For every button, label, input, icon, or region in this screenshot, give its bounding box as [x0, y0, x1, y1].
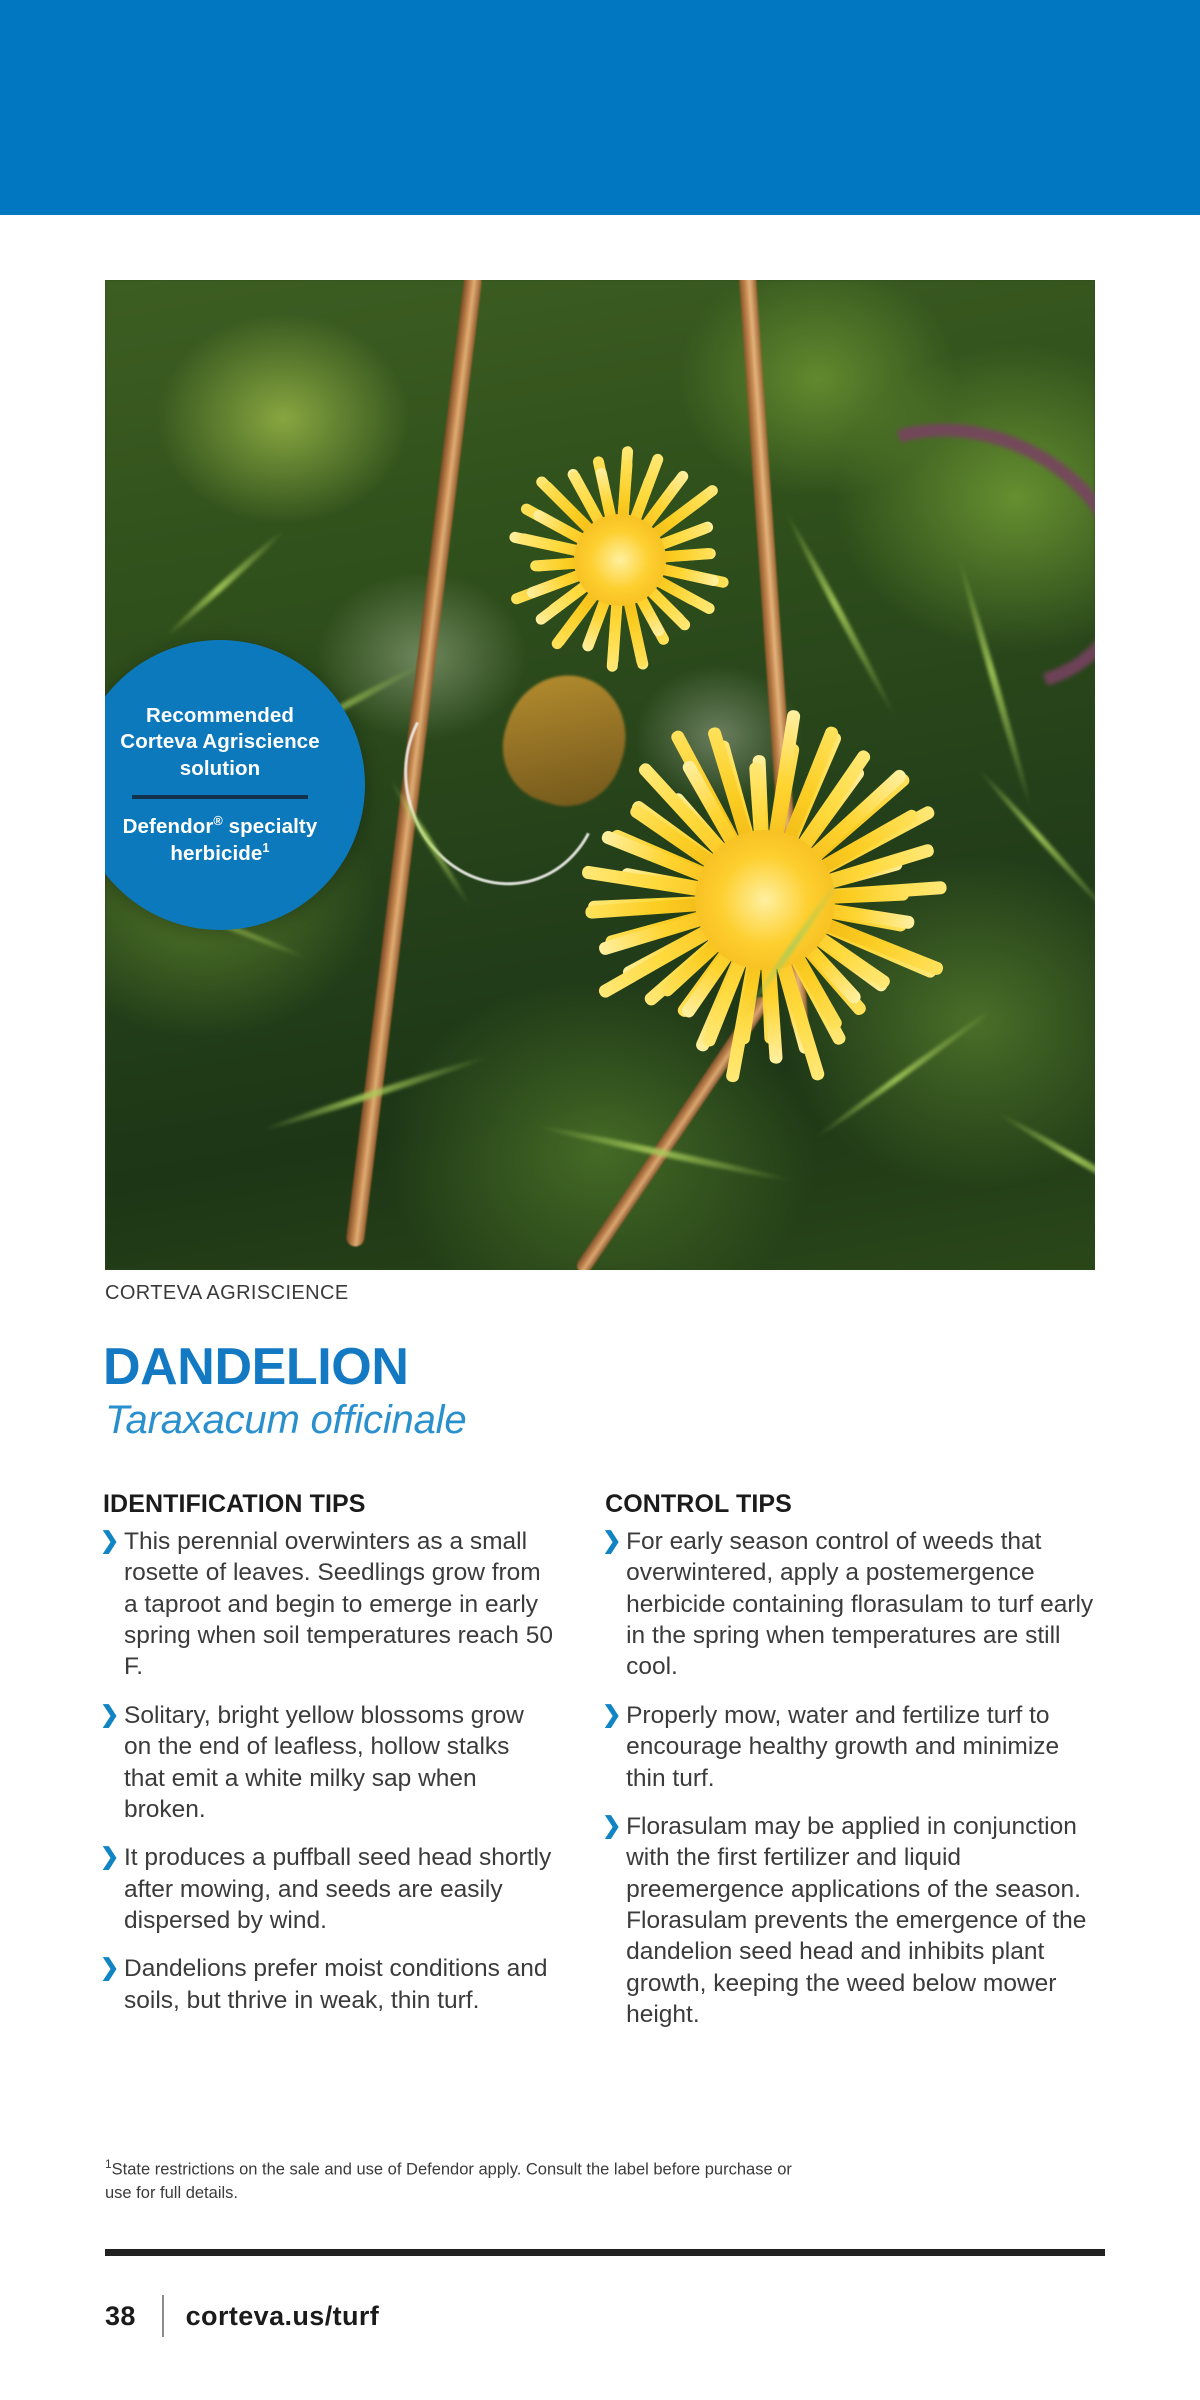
- chevron-right-icon: ❯: [100, 1953, 119, 1982]
- tip-bullet-text: For early season control of weeds that o…: [626, 1528, 1093, 1680]
- tip-bullet: ❯Dandelions prefer moist conditions and …: [98, 1953, 556, 2016]
- badge-line-2: Corteva Agriscience: [120, 730, 319, 753]
- badge-product-name: Defendor: [123, 815, 214, 838]
- photo-dandelion-flower-top: [505, 455, 735, 665]
- identification-tips-column: IDENTIFICATION TIPS ❯This perennial over…: [98, 1490, 556, 2047]
- registered-mark-icon: ®: [213, 813, 222, 828]
- footer: 38 corteva.us/turf: [105, 2295, 379, 2337]
- footer-separator: [162, 2295, 164, 2337]
- photo-credit-caption: CORTEVA AGRISCIENCE: [105, 1282, 349, 1305]
- tip-bullet: ❯Properly mow, water and fertilize turf …: [600, 1700, 1098, 1794]
- footer-rule: [105, 2249, 1105, 2256]
- page-number: 38: [105, 2301, 136, 2332]
- tips-columns: IDENTIFICATION TIPS ❯This perennial over…: [98, 1490, 1098, 2047]
- footer-url[interactable]: corteva.us/turf: [186, 2301, 380, 2332]
- footnote: 1State restrictions on the sale and use …: [105, 2156, 805, 2206]
- badge-product: Defendor® specialty herbicide1: [123, 813, 318, 867]
- tip-bullet-text: It produces a puffball seed head shortly…: [124, 1844, 551, 1934]
- chevron-right-icon: ❯: [602, 1526, 621, 1555]
- tip-bullet: ❯It produces a puffball seed head shortl…: [98, 1842, 556, 1936]
- flower-center: [574, 514, 666, 606]
- control-tips-list: ❯For early season control of weeds that …: [600, 1526, 1098, 2030]
- chevron-right-icon: ❯: [100, 1526, 119, 1555]
- tip-bullet-text: Florasulam may be applied in conjunction…: [626, 1813, 1086, 2028]
- photo-dandelion-flower-bottom: [575, 735, 955, 1065]
- tip-bullet: ❯Florasulam may be applied in conjunctio…: [600, 1811, 1098, 2031]
- badge-line-1: Recommended: [146, 704, 294, 727]
- chevron-right-icon: ❯: [602, 1811, 621, 1840]
- tip-bullet-text: This perennial overwinters as a small ro…: [124, 1528, 553, 1680]
- page-title: DANDELION: [103, 1337, 409, 1397]
- badge-product-line2: herbicide: [170, 842, 262, 865]
- badge-line-3: solution: [180, 757, 261, 780]
- header-blue-band: [0, 0, 1200, 215]
- tip-bullet-text: Solitary, bright yellow blossoms grow on…: [124, 1702, 524, 1823]
- control-tips-heading: CONTROL TIPS: [605, 1490, 1098, 1519]
- footnote-text: State restrictions on the sale and use o…: [105, 2161, 792, 2203]
- identification-tips-heading: IDENTIFICATION TIPS: [103, 1490, 556, 1519]
- identification-tips-list: ❯This perennial overwinters as a small r…: [98, 1526, 556, 2016]
- footnote-marker: 1: [105, 2157, 112, 2171]
- control-tips-column: CONTROL TIPS ❯For early season control o…: [600, 1490, 1098, 2047]
- tip-bullet: ❯Solitary, bright yellow blossoms grow o…: [98, 1700, 556, 1825]
- page-subtitle-scientific-name: Taraxacum officinale: [105, 1398, 466, 1443]
- tip-bullet: ❯This perennial overwinters as a small r…: [98, 1526, 556, 1683]
- chevron-right-icon: ❯: [100, 1842, 119, 1871]
- badge-divider: [132, 795, 308, 799]
- badge-product-suffix: specialty: [223, 815, 317, 838]
- tip-bullet-text: Dandelions prefer moist conditions and s…: [124, 1955, 548, 2013]
- badge-heading: Recommended Corteva Agriscience solution: [120, 703, 319, 782]
- hero-photo: Recommended Corteva Agriscience solution…: [105, 280, 1095, 1270]
- tip-bullet-text: Properly mow, water and fertilize turf t…: [626, 1702, 1059, 1792]
- badge-footnote-marker: 1: [262, 840, 269, 855]
- flower-center: [695, 830, 835, 970]
- chevron-right-icon: ❯: [100, 1700, 119, 1729]
- chevron-right-icon: ❯: [602, 1700, 621, 1729]
- tip-bullet: ❯For early season control of weeds that …: [600, 1526, 1098, 1683]
